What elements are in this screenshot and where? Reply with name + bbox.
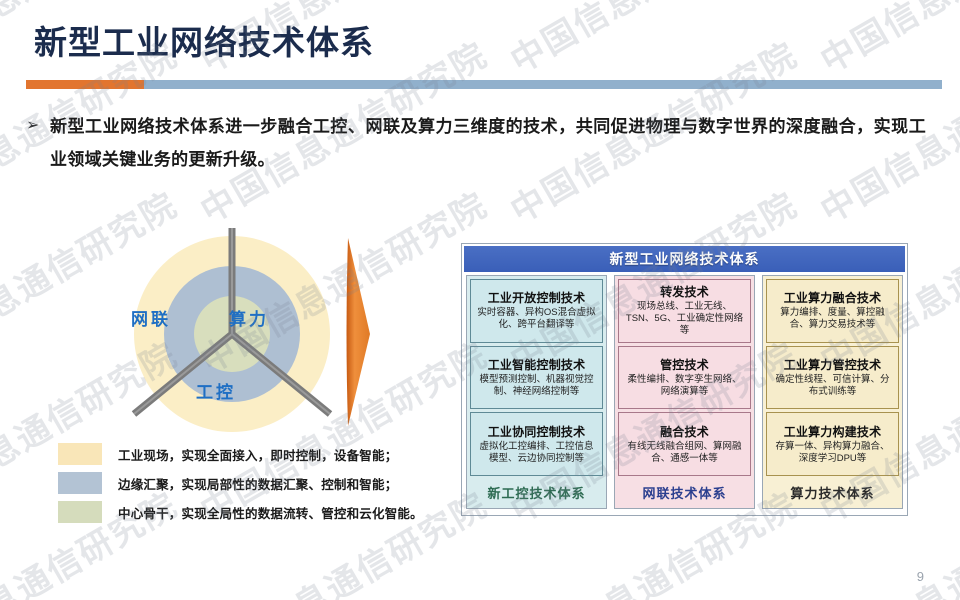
card-title: 工业智能控制技术: [488, 358, 586, 373]
legend-item: 中心骨干，实现全局性的数据流转、管控和云化智能。: [58, 498, 438, 526]
divider-blue-segment: [144, 80, 942, 89]
circle-label-suanli: 算力: [229, 305, 269, 330]
card-title: 融合技术: [660, 425, 709, 440]
legend-label-edge: 边缘汇聚，实现局部性的数据汇聚、控制和智能；: [118, 474, 397, 493]
legend-list: 工业现场，实现全面接入，即时控制，设备智能； 边缘汇聚，实现局部性的数据汇聚、控…: [58, 440, 438, 527]
card-title: 转发技术: [660, 285, 709, 300]
card-title: 工业算力融合技术: [784, 291, 882, 306]
architecture-columns: 工业开放控制技术 实时容器、异构OS混合虚拟化、跨平台翻译等 工业智能控制技术 …: [462, 275, 907, 513]
bullet-paragraph: ➢ 新型工业网络技术体系进一步融合工控、网联及算力三维度的技术，共同促进物理与数…: [26, 110, 926, 176]
card-description: 存算一体、异构算力融合、深度学习DPU等: [771, 441, 894, 465]
card-description: 柔性编排、数字孪生网络、网络演算等: [623, 374, 746, 398]
architecture-card[interactable]: 管控技术 柔性编排、数字孪生网络、网络演算等: [618, 346, 751, 410]
legend-item: 工业现场，实现全面接入，即时控制，设备智能；: [58, 440, 438, 468]
watermark-text: 中国信息通信研究院: [810, 0, 960, 82]
card-title: 管控技术: [660, 358, 709, 373]
watermark-text: 中国信息通信研究院: [500, 0, 805, 82]
divider-orange-segment: [26, 80, 144, 89]
bullet-arrow-icon: ➢: [26, 110, 50, 140]
architecture-card[interactable]: 工业协同控制技术 虚拟化工控编排、工控信息模型、云边协同控制等: [470, 412, 603, 476]
legend-item: 边缘汇聚，实现局部性的数据汇聚、控制和智能；: [58, 469, 438, 497]
architecture-card[interactable]: 工业算力管控技术 确定性线程、可信计算、分布式训练等: [766, 346, 899, 410]
bullet-paragraph-text: 新型工业网络技术体系进一步融合工控、网联及算力三维度的技术，共同促进物理与数字世…: [50, 110, 926, 176]
legend-swatch-edge: [58, 472, 102, 494]
architecture-column-footer: 新工控技术体系: [470, 479, 603, 505]
legend-swatch-core: [58, 501, 102, 523]
architecture-card[interactable]: 工业算力融合技术 算力编排、度量、算控融合、算力交易技术等: [766, 279, 899, 343]
card-description: 虚拟化工控编排、工控信息模型、云边协同控制等: [475, 441, 598, 465]
card-title: 工业算力管控技术: [784, 358, 882, 373]
architecture-panel: 新型工业网络技术体系 工业开放控制技术 实时容器、异构OS混合虚拟化、跨平台翻译…: [461, 243, 908, 516]
card-title: 工业算力构建技术: [784, 425, 882, 440]
card-description: 模型预测控制、机器视觉控制、神经网络控制等: [475, 374, 598, 398]
card-description: 实时容器、异构OS混合虚拟化、跨平台翻译等: [475, 307, 598, 331]
card-description: 确定性线程、可信计算、分布式训练等: [771, 374, 894, 398]
title-divider-bar: [26, 80, 942, 89]
architecture-column-footer: 网联技术体系: [618, 479, 751, 505]
card-title: 工业开放控制技术: [488, 291, 586, 306]
architecture-column-wanglian: 转发技术 现场总线、工业无线、TSN、5G、工业确定性网络等 管控技术 柔性编排…: [614, 275, 755, 509]
page-title: 新型工业网络技术体系: [34, 16, 374, 64]
architecture-card[interactable]: 转发技术 现场总线、工业无线、TSN、5G、工业确定性网络等: [618, 279, 751, 343]
concentric-circle-diagram: [112, 228, 352, 438]
architecture-card[interactable]: 工业智能控制技术 模型预测控制、机器视觉控制、神经网络控制等: [470, 346, 603, 410]
circle-label-wanglian: 网联: [131, 305, 171, 330]
legend-label-core: 中心骨干，实现全局性的数据流转、管控和云化智能。: [118, 503, 423, 522]
card-description: 现场总线、工业无线、TSN、5G、工业确定性网络等: [623, 301, 746, 337]
architecture-card[interactable]: 工业算力构建技术 存算一体、异构算力融合、深度学习DPU等: [766, 412, 899, 476]
architecture-card[interactable]: 工业开放控制技术 实时容器、异构OS混合虚拟化、跨平台翻译等: [470, 279, 603, 343]
legend-swatch-field: [58, 443, 102, 465]
architecture-panel-header: 新型工业网络技术体系: [464, 246, 905, 272]
card-description: 有线无线融合组网、算网融合、通感一体等: [623, 441, 746, 465]
architecture-column-gongkong: 工业开放控制技术 实时容器、异构OS混合虚拟化、跨平台翻译等 工业智能控制技术 …: [466, 275, 607, 509]
card-description: 算力编排、度量、算控融合、算力交易技术等: [771, 307, 894, 331]
circle-label-gongkong: 工控: [196, 378, 236, 403]
architecture-card[interactable]: 融合技术 有线无线融合组网、算网融合、通感一体等: [618, 412, 751, 476]
architecture-column-footer: 算力技术体系: [766, 479, 899, 505]
page-number: 9: [917, 569, 924, 584]
card-title: 工业协同控制技术: [488, 425, 586, 440]
architecture-column-suanli: 工业算力融合技术 算力编排、度量、算控融合、算力交易技术等 工业算力管控技术 确…: [762, 275, 903, 509]
orange-arrow-pointer-icon: [344, 236, 374, 428]
legend-label-field: 工业现场，实现全面接入，即时控制，设备智能；: [118, 445, 397, 464]
